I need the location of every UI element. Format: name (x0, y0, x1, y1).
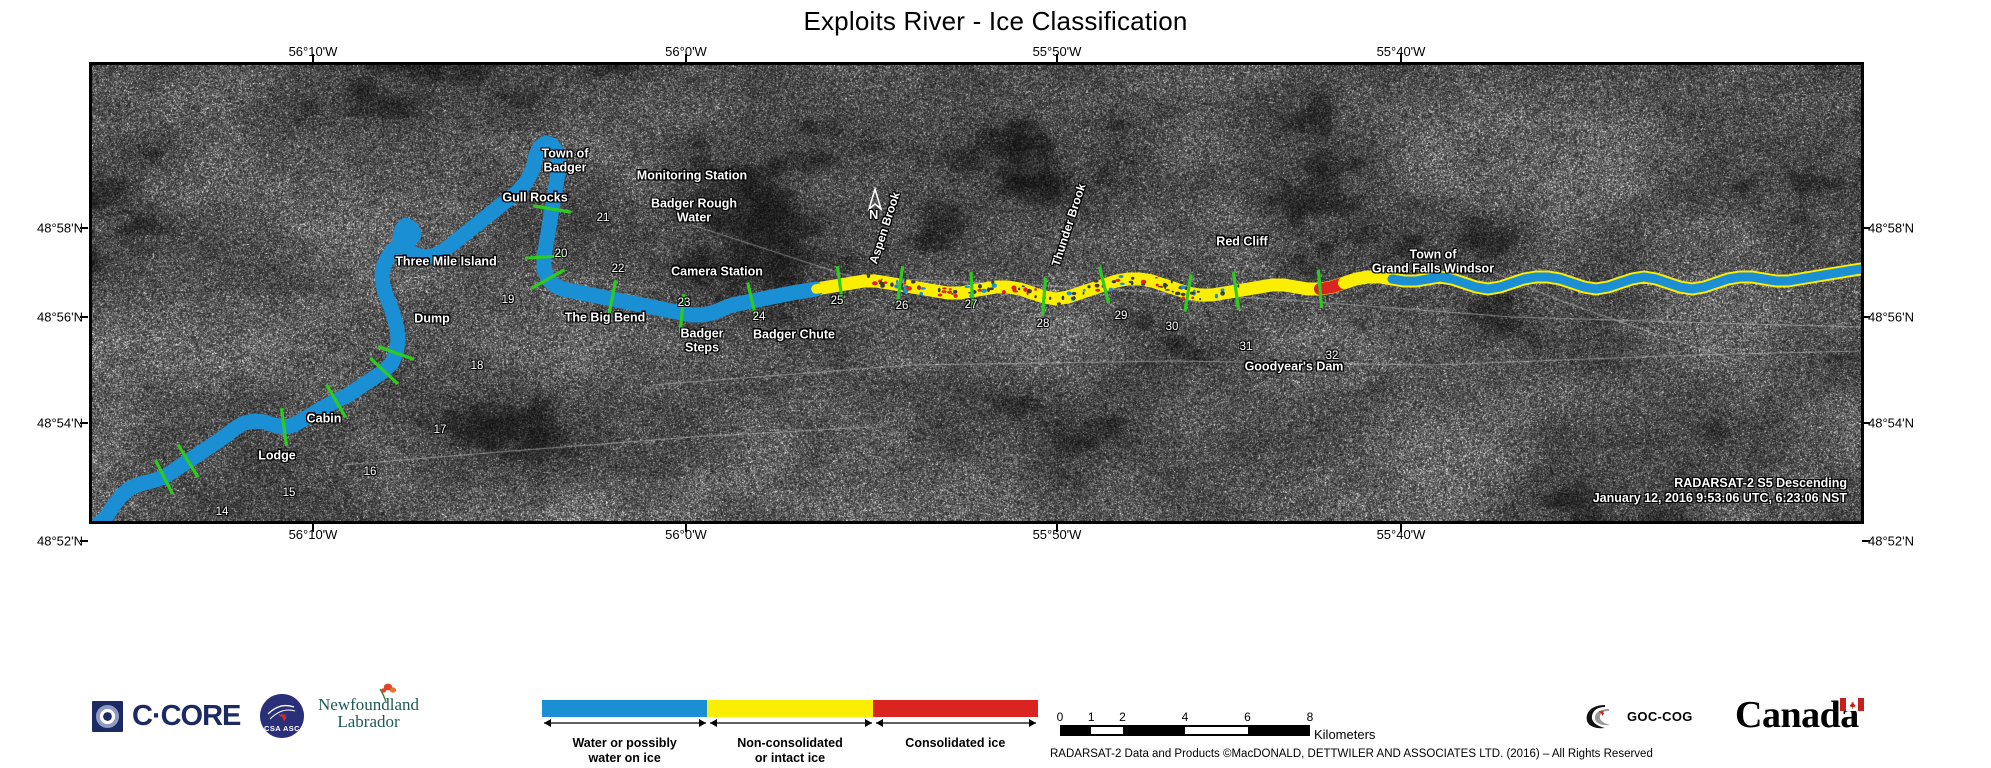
graticule-tick (80, 540, 88, 542)
legend-label-1: Non-consolidated or intact ice (707, 736, 872, 765)
ice-floe-speck (1215, 294, 1218, 299)
ice-floe-speck (911, 280, 916, 283)
latitude-label-right: 48°56'N (1868, 310, 1914, 325)
latitude-label-right: 48°52'N (1868, 534, 1914, 549)
ice-floe-speck (1165, 289, 1170, 291)
graticule-tick (1056, 54, 1058, 62)
scale-bar-track (1060, 725, 1310, 736)
latitude-label-right: 48°58'N (1868, 221, 1914, 236)
graticule-tick (1400, 524, 1402, 532)
legend-color-bars (542, 700, 1038, 717)
ice-floe-speck (941, 290, 946, 293)
ice-floe-speck (918, 286, 921, 290)
ice-floe-speck (1220, 291, 1225, 296)
ice-floe-speck (1164, 285, 1166, 289)
cross-section-transect (1042, 278, 1045, 316)
csa-wordmark: CSA ASC (264, 724, 300, 733)
ice-floe-speck (919, 292, 923, 296)
scale-bar-tick-label: 6 (1244, 710, 1251, 724)
scale-bar-unit: Kilometers (1314, 727, 1375, 742)
ice-floe-speck (1112, 280, 1116, 283)
goc-wordmark: GOC-COG (1627, 709, 1693, 724)
canada-flag-icon (1840, 698, 1864, 711)
legend-class-labels: Water or possibly water on iceNon-consol… (542, 736, 1038, 765)
nl-line-2: Labrador (318, 713, 419, 730)
copyright-credit: RADARSAT-2 Data and Products ©MacDONALD,… (1050, 748, 1653, 760)
ice-floe-speck (1034, 295, 1036, 298)
ice-floe-speck (1093, 279, 1098, 282)
ice-floe-speck (1049, 297, 1051, 300)
scale-bar-ticks: 012468 (1060, 710, 1310, 725)
ccore-mark-icon (92, 701, 123, 732)
scale-bar-tick-label: 8 (1307, 710, 1314, 724)
ice-floe-speck (1181, 296, 1185, 300)
latitude-label-left: 48°54'N (37, 416, 83, 431)
graticule-tick (80, 316, 88, 318)
graticule-tick (1400, 54, 1402, 62)
ice-floe-speck (1155, 277, 1158, 279)
graticule-tick (1862, 540, 1870, 542)
ice-floe-speck (883, 281, 887, 284)
scale-bar-tick-label: 4 (1182, 710, 1189, 724)
ice-floe-speck (1158, 275, 1160, 277)
ice-floe-speck (977, 289, 982, 292)
ice-floe-speck (1095, 289, 1100, 292)
ice-floe-speck (867, 274, 870, 278)
ice-floe-speck (1197, 291, 1200, 293)
ice-floe-speck (1018, 287, 1020, 290)
graticule-tick (685, 54, 687, 62)
legend-swatch-2 (873, 700, 1038, 717)
ice-floe-speck (1181, 285, 1186, 289)
scale-bar-tick-label: 0 (1057, 710, 1064, 724)
ice-floe-speck (1237, 284, 1239, 287)
scale-bar-tick-label: 2 (1119, 710, 1126, 724)
acquisition-info: RADARSAT-2 S5 DescendingJanuary 12, 2016… (1593, 476, 1847, 507)
ice-floe-speck (1057, 302, 1061, 305)
ice-floe-speck (1022, 286, 1025, 288)
ice-floe-speck (981, 289, 987, 293)
ice-floe-speck (1190, 292, 1195, 295)
river-class-nonconsolidated (1344, 277, 1392, 283)
ice-floe-speck (938, 294, 943, 297)
acquisition-line-2: January 12, 2016 9:53:06 UTC, 6:23:06 NS… (1593, 491, 1847, 505)
nl-line-1: Newfoundland (318, 696, 419, 713)
graticule-tick (80, 227, 88, 229)
cross-section-transect (1318, 270, 1321, 308)
ice-floe-speck (904, 285, 907, 289)
ice-floe-speck (978, 284, 982, 288)
ice-floe-speck (953, 290, 957, 294)
map-frame[interactable]: Town of BadgerMonitoring StationGull Roc… (89, 62, 1864, 524)
ice-floe-speck (1067, 291, 1072, 295)
ice-floe-speck (890, 282, 893, 287)
goc-swoosh-icon (1583, 702, 1623, 730)
latitude-label-left: 48°52'N (37, 534, 83, 549)
ice-floe-speck (1095, 284, 1099, 287)
ice-floe-speck (1221, 289, 1225, 292)
logo-newfoundland-labrador: Newfoundland Labrador (318, 696, 419, 730)
ice-floe-speck (1002, 290, 1006, 294)
map-poster: Exploits River - Ice Classification 56°1… (0, 0, 1991, 768)
page-title: Exploits River - Ice Classification (0, 6, 1991, 37)
ice-floe-speck (1072, 292, 1077, 295)
ice-floe-speck (947, 291, 952, 294)
ccore-wordmark: C·CORE (132, 700, 240, 733)
graticule-tick (312, 54, 314, 62)
ice-floe-speck (1115, 279, 1120, 282)
ice-floe-speck (989, 287, 994, 290)
logo-ccore: C·CORE (92, 700, 240, 733)
scale-bar: 012468 Kilometers (1060, 710, 1310, 736)
acquisition-line-1: RADARSAT-2 S5 Descending (1674, 476, 1847, 490)
ice-floe-speck (1034, 288, 1037, 291)
ice-floe-speck (1011, 286, 1016, 291)
ice-floe-speck (920, 287, 925, 290)
ice-floe-speck (872, 281, 878, 285)
graticule-tick (312, 524, 314, 532)
ice-floe-speck (992, 283, 997, 287)
latitude-label-left: 48°56'N (37, 310, 83, 325)
ice-floe-speck (949, 288, 952, 290)
ice-floe-speck (1172, 291, 1174, 293)
scale-bar-tick-label: 1 (1088, 710, 1095, 724)
ice-floe-speck (1087, 285, 1090, 288)
north-arrow-label: N (869, 207, 878, 222)
cross-section-transect (971, 272, 973, 310)
ice-floe-speck (1109, 288, 1113, 291)
latitude-label-left: 48°58'N (37, 221, 83, 236)
river-ice-overlay (92, 65, 1861, 521)
ice-floe-speck (1141, 280, 1147, 284)
ice-floe-speck (1199, 298, 1201, 300)
river-class-water (96, 143, 816, 521)
ice-floe-speck (1027, 289, 1032, 294)
graticule-tick (80, 422, 88, 424)
ice-floe-speck (1191, 296, 1194, 299)
ice-floe-speck (1175, 292, 1181, 296)
ice-floe-speck (880, 284, 884, 288)
ice-floe-speck (896, 280, 898, 284)
legend-axis (542, 717, 1038, 730)
logo-goc-cog: GOC-COG (1583, 702, 1693, 730)
ice-floe-speck (951, 293, 954, 295)
graticule-tick (685, 524, 687, 532)
river-shoreline-halo (96, 143, 1861, 521)
latitude-label-right: 48°54'N (1868, 416, 1914, 431)
ice-floe-speck (965, 286, 970, 288)
ice-floe-speck (1013, 291, 1018, 293)
legend-label-2: Consolidated ice (873, 736, 1038, 765)
ice-floe-speck (1156, 284, 1159, 287)
ice-floe-speck (1120, 283, 1125, 286)
ice-floe-speck (881, 279, 883, 281)
ice-floe-speck (938, 288, 941, 293)
cross-section-transect (680, 294, 684, 332)
legend-label-0: Water or possibly water on ice (542, 736, 707, 765)
north-arrow-icon: N (862, 187, 888, 224)
logo-csa-asc: CSA ASC (260, 694, 304, 738)
legend-swatch-0 (542, 700, 707, 717)
ice-floe-speck (1119, 275, 1124, 278)
pitcher-plant-icon (374, 682, 400, 704)
legend: Water or possibly water on iceNon-consol… (542, 700, 1038, 765)
graticule-tick (1056, 524, 1058, 532)
ice-floe-speck (1083, 292, 1085, 295)
ice-floe-speck (942, 287, 946, 289)
cross-section-transect (525, 256, 563, 258)
ice-floe-speck (1073, 296, 1075, 300)
ice-floe-speck (1159, 286, 1163, 288)
logo-canada-wordmark: Canada (1735, 696, 1864, 734)
legend-swatch-1 (707, 700, 872, 717)
ice-floe-speck (1181, 293, 1186, 296)
ice-floe-speck (953, 294, 957, 298)
ice-floe-speck (1062, 296, 1065, 300)
ice-floe-speck (1131, 281, 1134, 285)
ice-floe-speck (1171, 280, 1173, 284)
ice-floe-speck (1131, 277, 1134, 280)
ice-floe-speck (1083, 289, 1086, 292)
